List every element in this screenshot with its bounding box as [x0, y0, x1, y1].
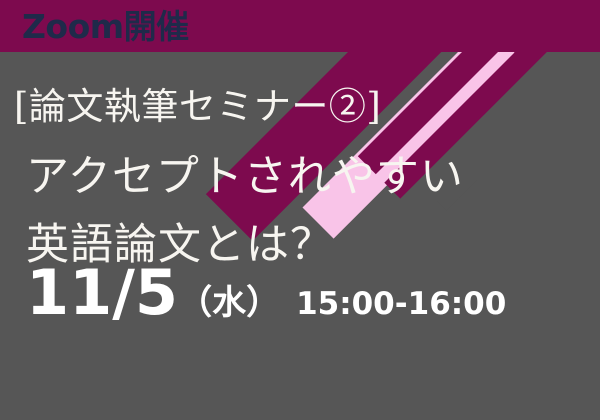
banner-content: [論文執筆セミナー②] アクセプトされやすい 英語論文とは？	[0, 52, 600, 420]
zoom-event-label: Zoom開催	[0, 10, 189, 43]
header-band-label-plate: Zoom開催	[0, 0, 262, 52]
schedule-row: 11/5 （水） 15:00-16:00	[26, 262, 506, 324]
event-date: 11/5	[26, 262, 178, 324]
event-time: 15:00-16:00	[296, 289, 506, 320]
seminar-banner: Zoom開催 [論文執筆セミナー②] アクセプトされやすい 英語論文とは？ 11…	[0, 0, 600, 420]
event-weekday: （水）	[178, 286, 280, 320]
seminar-series-label: [論文執筆セミナー②]	[14, 88, 381, 125]
headline-line-1: アクセプトされやすい	[26, 156, 464, 199]
